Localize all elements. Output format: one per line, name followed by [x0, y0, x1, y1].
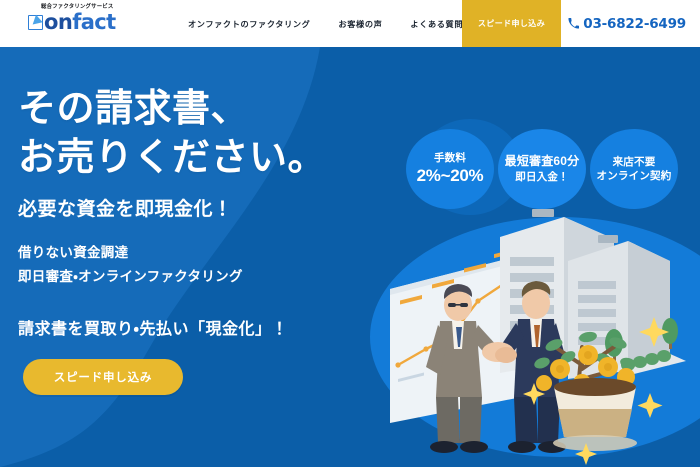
nav-item-testimonials[interactable]: お客様の声 [338, 18, 382, 30]
hero-badges: 手数料 2%~20% 最短審査60分 即日入金！ 来店不要 オンライン契約 [406, 129, 678, 209]
phone-icon [568, 18, 579, 29]
logo-wordmark: onfact [28, 12, 116, 33]
site-header: 総合ファクタリングサービス onfact オンファクトのファクタリング お客様の… [0, 0, 700, 47]
hero-section: 手数料 2%~20% 最短審査60分 即日入金！ 来店不要 オンライン契約 [0, 47, 700, 467]
hero-body: 借りない資金調達 即日審査・オンラインファクタリング [18, 241, 408, 288]
badge-screening-line2: 即日入金！ [515, 171, 569, 183]
badge-screening: 最短審査60分 即日入金！ [498, 129, 586, 209]
hero-headline-line2: お売りください。 [18, 134, 408, 183]
badge-fee: 手数料 2%~20% [406, 129, 494, 209]
badge-online-line1: 来店不要 [613, 156, 656, 168]
badge-online-line2: オンライン契約 [597, 170, 672, 182]
site-logo[interactable]: 総合ファクタリングサービス onfact [28, 5, 116, 33]
badge-fee-line1: 手数料 [434, 152, 466, 164]
business-handshake-isometric-illustration [382, 197, 700, 467]
logo-word-on: on [44, 10, 72, 34]
square-arrow-icon [28, 15, 43, 30]
logo-word-fact: fact [72, 10, 115, 34]
badge-online: 来店不要 オンライン契約 [590, 129, 678, 209]
hero-body-line2: 即日審査・オンラインファクタリング [18, 265, 408, 289]
hero-emphasis-text: 請求書を買取り・先払い「現金化」！ [18, 315, 408, 339]
hero-body-line1: 借りない資金調達 [18, 241, 408, 265]
hero-headline-line1: その請求書、 [18, 85, 408, 134]
header-apply-button-label: スピード申し込み [478, 18, 545, 29]
hero-subheadline: 必要な資金を即現金化！ [18, 194, 408, 221]
landing-page: 総合ファクタリングサービス onfact オンファクトのファクタリング お客様の… [0, 0, 700, 467]
badge-screening-line1: 最短審査60分 [505, 155, 580, 169]
hero-headline: その請求書、 お売りください。 [18, 85, 408, 182]
hero-apply-button[interactable]: スピード申し込み [23, 359, 183, 395]
nav-item-faq[interactable]: よくある質問 [410, 18, 463, 30]
hero-copy: その請求書、 お売りください。 必要な資金を即現金化！ 借りない資金調達 即日審… [18, 47, 408, 395]
badge-fee-line2: 2%~20% [417, 166, 484, 186]
header-apply-button[interactable]: スピード申し込み [462, 0, 561, 47]
nav-item-factoring[interactable]: オンファクトのファクタリング [188, 18, 310, 30]
main-navigation: オンファクトのファクタリング お客様の声 よくある質問 [188, 0, 463, 47]
header-phone-link[interactable]: 03-6822-6499 [568, 0, 686, 47]
phone-number: 03-6822-6499 [583, 16, 686, 32]
